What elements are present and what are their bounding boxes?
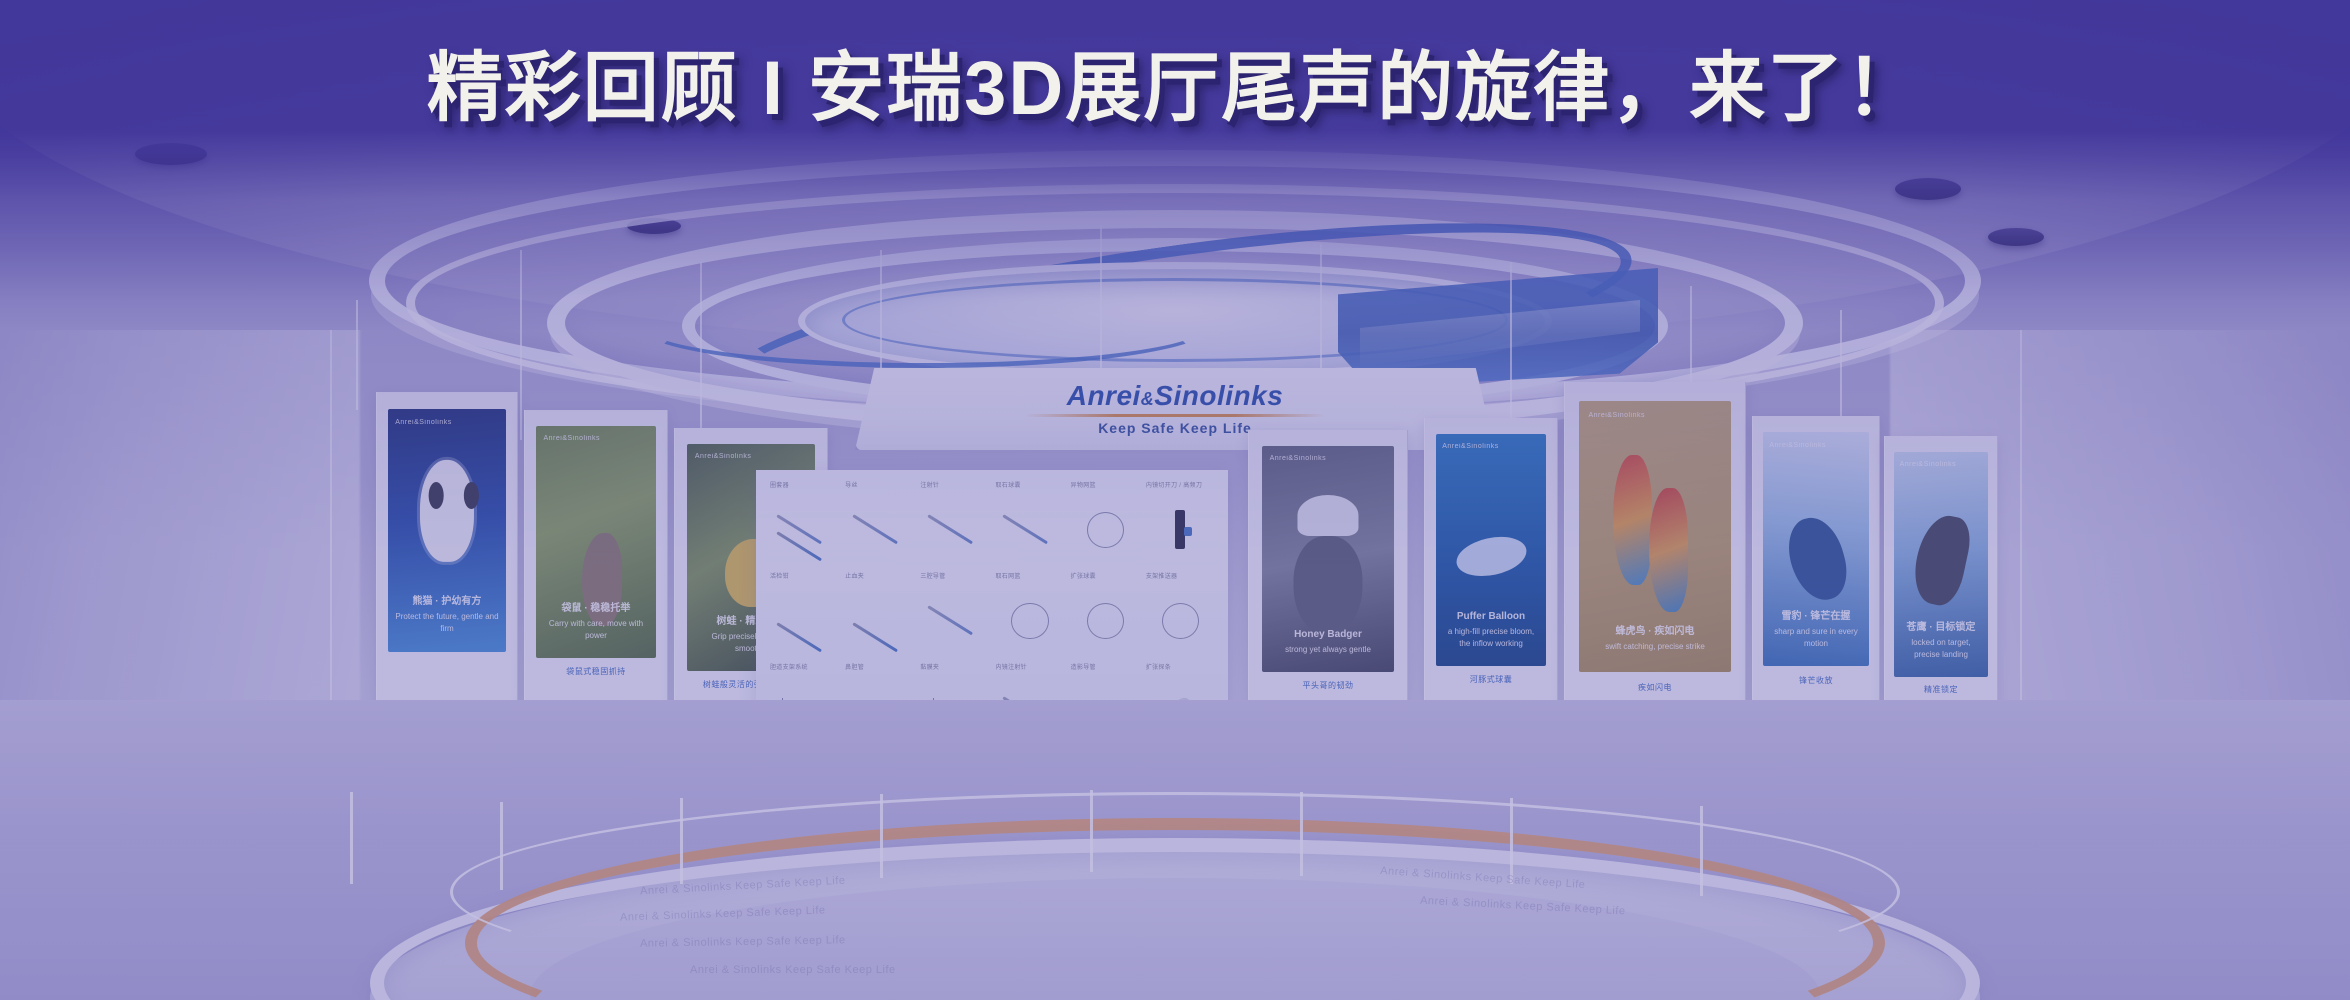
poster-brand-tag: Anrei&Sinolinks [544, 435, 601, 442]
panel-subtitle: 平头哥的韧劲 [1262, 680, 1395, 691]
catalog-cell-label: 造影导管 [1071, 662, 1096, 671]
catalog-cell[interactable]: 注射针 [918, 480, 990, 568]
rail-post [1700, 806, 1703, 896]
tool-illustration [924, 505, 985, 560]
poster-caption: 熊猫 · 护幼有方 Protect the future, gentle and… [395, 594, 499, 635]
poster-art-ocean: Anrei&Sinolinks Puffer Balloon a high-fi… [1436, 434, 1547, 666]
poster-brand-tag: Anrei&Sinolinks [1900, 461, 1957, 468]
poster-caption-sub: swift catching, precise strike [1605, 642, 1705, 651]
exhibition-room-3d-render: Anrei&Sinolinks Keep Safe Keep Life Anre… [0, 0, 2350, 1000]
rail-post [680, 798, 683, 884]
poster-caption-sub: locked on target, precise landing [1911, 638, 1970, 659]
catalog-cell[interactable]: 导丝 [843, 480, 915, 568]
poster-caption: Honey Badger strong yet always gentle [1270, 627, 1387, 656]
catalog-cell-label: 胆道支架系统 [770, 662, 808, 671]
catalog-cell-label: 扩张探条 [1146, 662, 1171, 671]
poster-caption-title: 袋鼠 · 稳稳托举 [544, 601, 649, 616]
catalog-cell[interactable]: 圈套器 [768, 480, 840, 568]
catalog-cell-label: 注射针 [920, 480, 939, 489]
blue-arc-left [640, 286, 1210, 368]
tool-illustration [1150, 596, 1211, 651]
poster-caption: 袋鼠 · 稳稳托举 Carry with care, move with pow… [544, 601, 649, 642]
catalog-cell[interactable]: 止血夹 [843, 571, 915, 659]
tool-illustration [1074, 505, 1135, 560]
rail-post [1090, 790, 1093, 872]
tool-illustration [1074, 596, 1135, 651]
catalog-cell[interactable]: 异物网篮 [1069, 480, 1141, 568]
catalog-cell-label: 支架推送器 [1146, 571, 1178, 580]
poster-brand-tag: Anrei&Sinolinks [1588, 412, 1645, 419]
rail-post [1510, 798, 1513, 884]
rail-post [350, 792, 353, 884]
poster-caption: 苍鹰 · 目标锁定 locked on target, precise land… [1900, 620, 1983, 661]
poster-art-panda: Anrei&Sinolinks 熊猫 · 护幼有方 Protect the fu… [388, 409, 506, 653]
tool-illustration [924, 596, 985, 651]
tool-illustration [999, 505, 1060, 560]
catalog-cell-label: 鼻胆管 [845, 662, 864, 671]
panel-subtitle: 袋鼠式稳固抓持 [536, 666, 655, 677]
catalog-cell[interactable]: 活检钳 [768, 571, 840, 659]
panel-subtitle: 河豚式球囊 [1436, 674, 1547, 685]
catalog-cell-label: 内镜切开刀 / 高频刀 [1146, 480, 1202, 489]
poster-brand-tag: Anrei&Sinolinks [1270, 455, 1327, 462]
poster-caption-title: 雪豹 · 锋芒在握 [1769, 609, 1862, 624]
poster-caption: 蜂虎鸟 · 疾如闪电 swift catching, precise strik… [1588, 624, 1721, 653]
catalog-cell-label: 取石网篮 [995, 571, 1020, 580]
catalog-cell[interactable]: 支架推送器 [1144, 571, 1216, 659]
catalog-cell-label: 导丝 [845, 480, 858, 489]
poster-art-eagle: Anrei&Sinolinks 苍鹰 · 目标锁定 locked on targ… [1894, 452, 1988, 677]
panel-subtitle: 疾如闪电 [1579, 682, 1730, 693]
poster-caption-title: Puffer Balloon [1442, 609, 1540, 624]
catalog-cell[interactable]: 取石网篮 [993, 571, 1065, 659]
rail-post [1300, 792, 1303, 876]
tool-illustration [774, 505, 835, 560]
tool-illustration [999, 596, 1060, 651]
poster-art-bird: Anrei&Sinolinks 蜂虎鸟 · 疾如闪电 swift catchin… [1579, 401, 1730, 672]
tool-illustration [1150, 505, 1211, 560]
poster-art-kangaroo: Anrei&Sinolinks 袋鼠 · 稳稳托举 Carry with car… [536, 426, 655, 658]
catalog-cell[interactable]: 三腔导管 [918, 571, 990, 659]
tool-illustration [849, 596, 910, 651]
catalog-cell-label: 活检钳 [770, 571, 789, 580]
exhibition-hall-banner: Anrei&Sinolinks Keep Safe Keep Life Anre… [0, 0, 2350, 1000]
poster-caption-title: 熊猫 · 护幼有方 [395, 594, 499, 609]
panel-subtitle: 锋芒收放 [1763, 675, 1869, 686]
catalog-cell[interactable]: 扩张球囊 [1069, 571, 1141, 659]
catalog-cell-label: 取石球囊 [995, 480, 1020, 489]
poster-caption-sub: strong yet always gentle [1285, 645, 1371, 654]
catalog-cell-label: 扩张球囊 [1071, 571, 1096, 580]
catalog-cell-label: 止血夹 [845, 571, 864, 580]
poster-caption-title: 蜂虎鸟 · 疾如闪电 [1588, 624, 1721, 639]
poster-caption: 雪豹 · 锋芒在握 sharp and sure in every motion [1769, 609, 1862, 650]
poster-brand-tag: Anrei&Sinolinks [695, 453, 752, 460]
rail-post [500, 802, 503, 890]
catalog-cell[interactable]: 取石球囊 [993, 480, 1065, 568]
catalog-cell-label: 三腔导管 [920, 571, 945, 580]
poster-brand-tag: Anrei&Sinolinks [395, 419, 452, 426]
poster-caption-title: Honey Badger [1270, 627, 1387, 642]
poster-brand-tag: Anrei&Sinolinks [1442, 443, 1499, 450]
poster-caption-title: 苍鹰 · 目标锁定 [1900, 620, 1983, 635]
tool-illustration [774, 596, 835, 651]
catalog-cell-label: 异物网篮 [1071, 480, 1096, 489]
poster-caption-sub: Carry with care, move with power [549, 619, 643, 640]
panel-subtitle: 精准锁定 [1894, 684, 1988, 695]
catalog-cell[interactable]: 内镜切开刀 / 高频刀 [1144, 480, 1216, 568]
page-title: 精彩回顾 I 安瑞3D展厅尾声的旋律，来了！ [0, 26, 2350, 136]
poster-caption: Puffer Balloon a high-fill precise bloom… [1442, 609, 1540, 650]
floor-ring-text: Anrei & Sinolinks Keep Safe Keep Life [690, 964, 896, 976]
poster-caption-sub: a high-fill precise bloom, the inflow wo… [1448, 627, 1534, 648]
poster-brand-tag: Anrei&Sinolinks [1769, 442, 1826, 449]
tool-illustration [849, 505, 910, 560]
poster-art-badger: Anrei&Sinolinks Honey Badger strong yet … [1262, 446, 1395, 672]
rail-post [880, 794, 883, 878]
poster-caption-sub: sharp and sure in every motion [1774, 627, 1858, 648]
poster-art-snow: Anrei&Sinolinks 雪豹 · 锋芒在握 sharp and sure… [1763, 432, 1869, 666]
catalog-cell-label: 圈套器 [770, 480, 789, 489]
catalog-cell-label: 黏膜夹 [920, 662, 939, 671]
catalog-cell-label: 内镜注射针 [995, 662, 1027, 671]
poster-caption-sub: Protect the future, gentle and firm [395, 612, 498, 633]
